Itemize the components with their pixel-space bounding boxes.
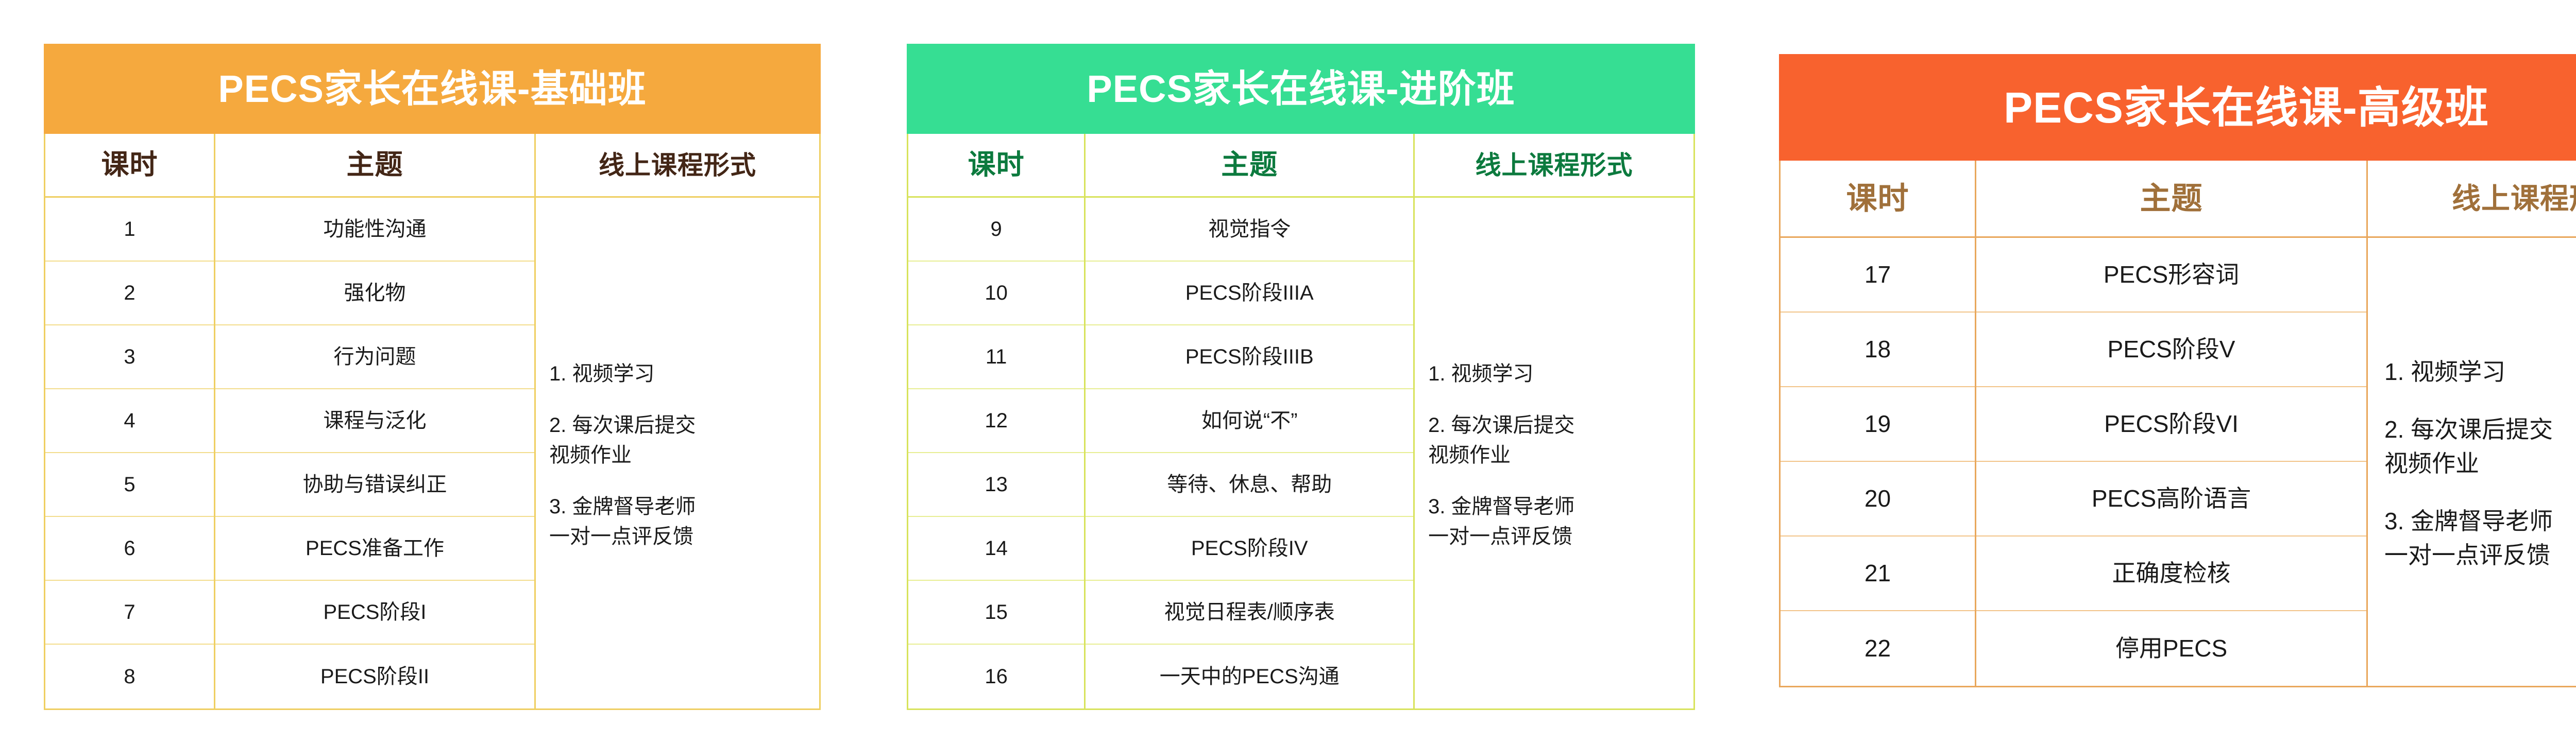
course-schedule-board: PECS家长在线课-基础班 课时 1 2 3 4 5 6 7 8 主题 功能性沟…: [0, 0, 2576, 744]
table-row: 22: [1781, 611, 1975, 686]
column-topic-advanced: 主题 PECS形容词 PECS阶段V PECS阶段VI PECS高阶语言 正确度…: [1976, 161, 2368, 686]
table-row: 正确度检核: [1976, 537, 2366, 611]
table-row: 等待、休息、帮助: [1086, 453, 1413, 517]
table-row: 15: [908, 581, 1084, 645]
column-header-format: 线上课程形式: [536, 134, 819, 198]
table-row: 如何说“不”: [1086, 389, 1413, 453]
table-row: PECS阶段VI: [1976, 387, 2366, 462]
table-row: 3: [45, 325, 214, 389]
table-row: 18: [1781, 313, 1975, 387]
table-row: 协助与错误纠正: [215, 453, 534, 517]
table-row: PECS形容词: [1976, 238, 2366, 313]
format-item: 3. 金牌督导老师 一对一点评反馈: [2384, 503, 2576, 570]
table-row: 9: [908, 198, 1084, 262]
table-row: PECS阶段V: [1976, 313, 2366, 387]
course-grid-basic: 课时 1 2 3 4 5 6 7 8 主题 功能性沟通 强化物 行为问题 课程与…: [44, 134, 821, 710]
table-row: 17: [1781, 238, 1975, 313]
column-format-advanced: 线上课程形式 1. 视频学习 2. 每次课后提交 视频作业 3. 金牌督导老师 …: [2368, 161, 2576, 686]
table-row: 课程与泛化: [215, 389, 534, 453]
table-row: 14: [908, 517, 1084, 581]
format-list-intermediate: 1. 视频学习 2. 每次课后提交 视频作业 3. 金牌督导老师 一对一点评反馈: [1415, 198, 1693, 708]
table-row: 12: [908, 389, 1084, 453]
table-row: PECS高阶语言: [1976, 462, 2366, 537]
format-item: 1. 视频学习: [549, 357, 806, 387]
table-row: 功能性沟通: [215, 198, 534, 262]
table-row: 13: [908, 453, 1084, 517]
column-lesson-advanced: 课时 17 18 19 20 21 22: [1781, 161, 1976, 686]
table-row: 16: [908, 645, 1084, 708]
column-header-format: 线上课程形式: [1415, 134, 1693, 198]
column-format-intermediate: 线上课程形式 1. 视频学习 2. 每次课后提交 视频作业 3. 金牌督导老师 …: [1415, 134, 1693, 708]
course-table-intermediate: PECS家长在线课-进阶班 课时 9 10 11 12 13 14 15 16 …: [907, 44, 1695, 710]
table-row: 停用PECS: [1976, 611, 2366, 686]
column-lesson-intermediate: 课时 9 10 11 12 13 14 15 16: [908, 134, 1086, 708]
course-grid-intermediate: 课时 9 10 11 12 13 14 15 16 主题 视觉指令 PECS阶段…: [907, 134, 1695, 710]
column-header-lesson: 课时: [1781, 161, 1975, 238]
format-list-advanced: 1. 视频学习 2. 每次课后提交 视频作业 3. 金牌督导老师 一对一点评反馈: [2368, 238, 2576, 686]
table-title-basic: PECS家长在线课-基础班: [44, 44, 821, 134]
table-row: 6: [45, 517, 214, 581]
table-row: 10: [908, 262, 1084, 325]
column-format-basic: 线上课程形式 1. 视频学习 2. 每次课后提交 视频作业 3. 金牌督导老师 …: [536, 134, 819, 708]
column-topic-basic: 主题 功能性沟通 强化物 行为问题 课程与泛化 协助与错误纠正 PECS准备工作…: [215, 134, 536, 708]
table-row: 4: [45, 389, 214, 453]
table-row: 2: [45, 262, 214, 325]
table-row: 强化物: [215, 262, 534, 325]
table-row: PECS阶段II: [215, 645, 534, 708]
column-header-topic: 主题: [215, 134, 534, 198]
table-row: 7: [45, 581, 214, 645]
table-row: 一天中的PECS沟通: [1086, 645, 1413, 708]
format-item: 2. 每次课后提交 视频作业: [549, 408, 806, 468]
course-table-advanced: PECS家长在线课-高级班 课时 17 18 19 20 21 22 主题 PE…: [1779, 54, 2576, 687]
column-header-topic: 主题: [1976, 161, 2366, 238]
format-item: 1. 视频学习: [1428, 357, 1680, 387]
format-item: 2. 每次课后提交 视频作业: [1428, 408, 1680, 468]
column-header-format: 线上课程形式: [2368, 161, 2576, 238]
column-header-topic: 主题: [1086, 134, 1413, 198]
column-header-lesson: 课时: [45, 134, 214, 198]
table-row: 视觉日程表/顺序表: [1086, 581, 1413, 645]
table-title-intermediate: PECS家长在线课-进阶班: [907, 44, 1695, 134]
table-row: 11: [908, 325, 1084, 389]
table-row: 5: [45, 453, 214, 517]
table-row: 8: [45, 645, 214, 708]
format-list-basic: 1. 视频学习 2. 每次课后提交 视频作业 3. 金牌督导老师 一对一点评反馈: [536, 198, 819, 708]
table-row: 视觉指令: [1086, 198, 1413, 262]
format-item: 1. 视频学习: [2384, 353, 2576, 387]
table-row: 21: [1781, 537, 1975, 611]
table-row: PECS准备工作: [215, 517, 534, 581]
column-lesson-basic: 课时 1 2 3 4 5 6 7 8: [45, 134, 215, 708]
course-grid-advanced: 课时 17 18 19 20 21 22 主题 PECS形容词 PECS阶段V …: [1779, 161, 2576, 687]
format-item: 3. 金牌督导老师 一对一点评反馈: [1428, 490, 1680, 549]
format-item: 3. 金牌督导老师 一对一点评反馈: [549, 490, 806, 549]
table-row: PECS阶段IV: [1086, 517, 1413, 581]
column-header-lesson: 课时: [908, 134, 1084, 198]
table-row: PECS阶段IIIA: [1086, 262, 1413, 325]
table-row: 19: [1781, 387, 1975, 462]
table-row: 1: [45, 198, 214, 262]
course-table-basic: PECS家长在线课-基础班 课时 1 2 3 4 5 6 7 8 主题 功能性沟…: [44, 44, 821, 710]
table-row: 20: [1781, 462, 1975, 537]
column-topic-intermediate: 主题 视觉指令 PECS阶段IIIA PECS阶段IIIB 如何说“不” 等待、…: [1086, 134, 1415, 708]
table-row: 行为问题: [215, 325, 534, 389]
format-item: 2. 每次课后提交 视频作业: [2384, 411, 2576, 479]
table-title-advanced: PECS家长在线课-高级班: [1779, 54, 2576, 161]
table-row: PECS阶段I: [215, 581, 534, 645]
table-row: PECS阶段IIIB: [1086, 325, 1413, 389]
